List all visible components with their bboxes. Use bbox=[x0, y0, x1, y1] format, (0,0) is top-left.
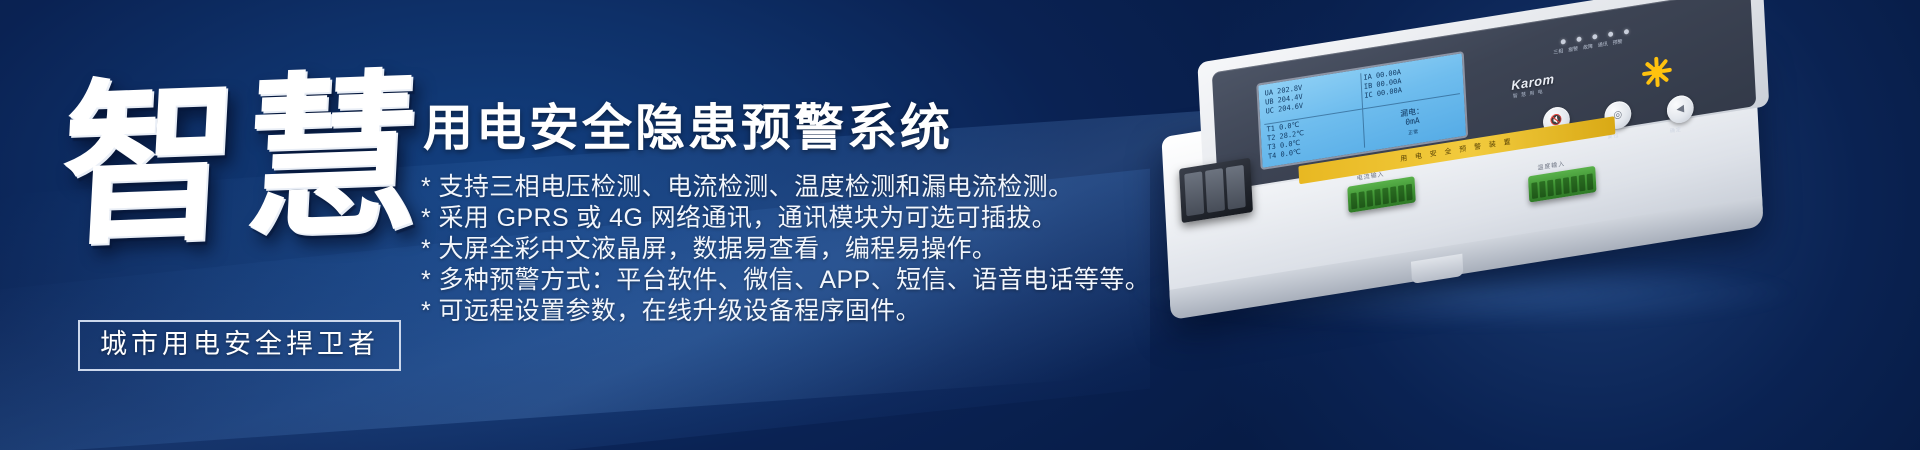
lcd-temp-value-t4: 0.0℃ bbox=[1280, 148, 1301, 159]
indicator-label: 通讯 bbox=[1598, 40, 1608, 49]
page-title: 用电安全隐患预警系统 bbox=[423, 88, 953, 160]
brand-calligraphy: 智慧 bbox=[54, 12, 430, 309]
power-connector bbox=[1179, 158, 1253, 223]
lcd-temp-label-t3: T3 bbox=[1267, 142, 1276, 151]
led-icon bbox=[1592, 34, 1597, 40]
list-item: * 大屏全彩中文液晶屏，数据易查看，编程易操作。 bbox=[421, 235, 1121, 264]
indicator-label: 预警 bbox=[1612, 38, 1622, 47]
sunburst-icon bbox=[1639, 52, 1674, 91]
led-icon bbox=[1561, 39, 1566, 45]
led-icon bbox=[1624, 29, 1629, 35]
product-image: UA 202.8V UB 204.4V UC 204.6V IA 00.00A … bbox=[1095, 8, 1895, 338]
feature-list: * 支持三相电压检测、电流检测、温度检测和漏电流检测。 * 采用 GPRS 或 … bbox=[421, 173, 1121, 328]
indicator-label: 三相 bbox=[1553, 47, 1563, 56]
indicator-label: 故障 bbox=[1583, 43, 1593, 52]
led-icon bbox=[1576, 36, 1581, 42]
lcd-temp-label-t2: T2 bbox=[1267, 133, 1276, 142]
tagline-box: 城市用电安全捍卫者 bbox=[78, 320, 401, 371]
led-icon bbox=[1608, 31, 1613, 37]
lcd-temp-label-t4: T4 bbox=[1268, 152, 1277, 161]
lcd-temp-label-t1: T1 bbox=[1266, 124, 1275, 133]
list-item: * 支持三相电压检测、电流检测、温度检测和漏电流检测。 bbox=[421, 173, 1121, 202]
list-item: * 可远程设置参数，在线升级设备程序固件。 bbox=[421, 297, 1121, 326]
list-item: * 采用 GPRS 或 4G 网络通讯，通讯模块为可选可插拔。 bbox=[421, 204, 1121, 233]
promo-banner: 智慧 城市用电安全捍卫者 用电安全隐患预警系统 * 支持三相电压检测、电流检测、… bbox=[0, 0, 1920, 450]
indicator-label: 报警 bbox=[1568, 45, 1578, 54]
list-item: * 多种预警方式：平台软件、微信、APP、短信、语音电话等等。 bbox=[421, 266, 1121, 295]
